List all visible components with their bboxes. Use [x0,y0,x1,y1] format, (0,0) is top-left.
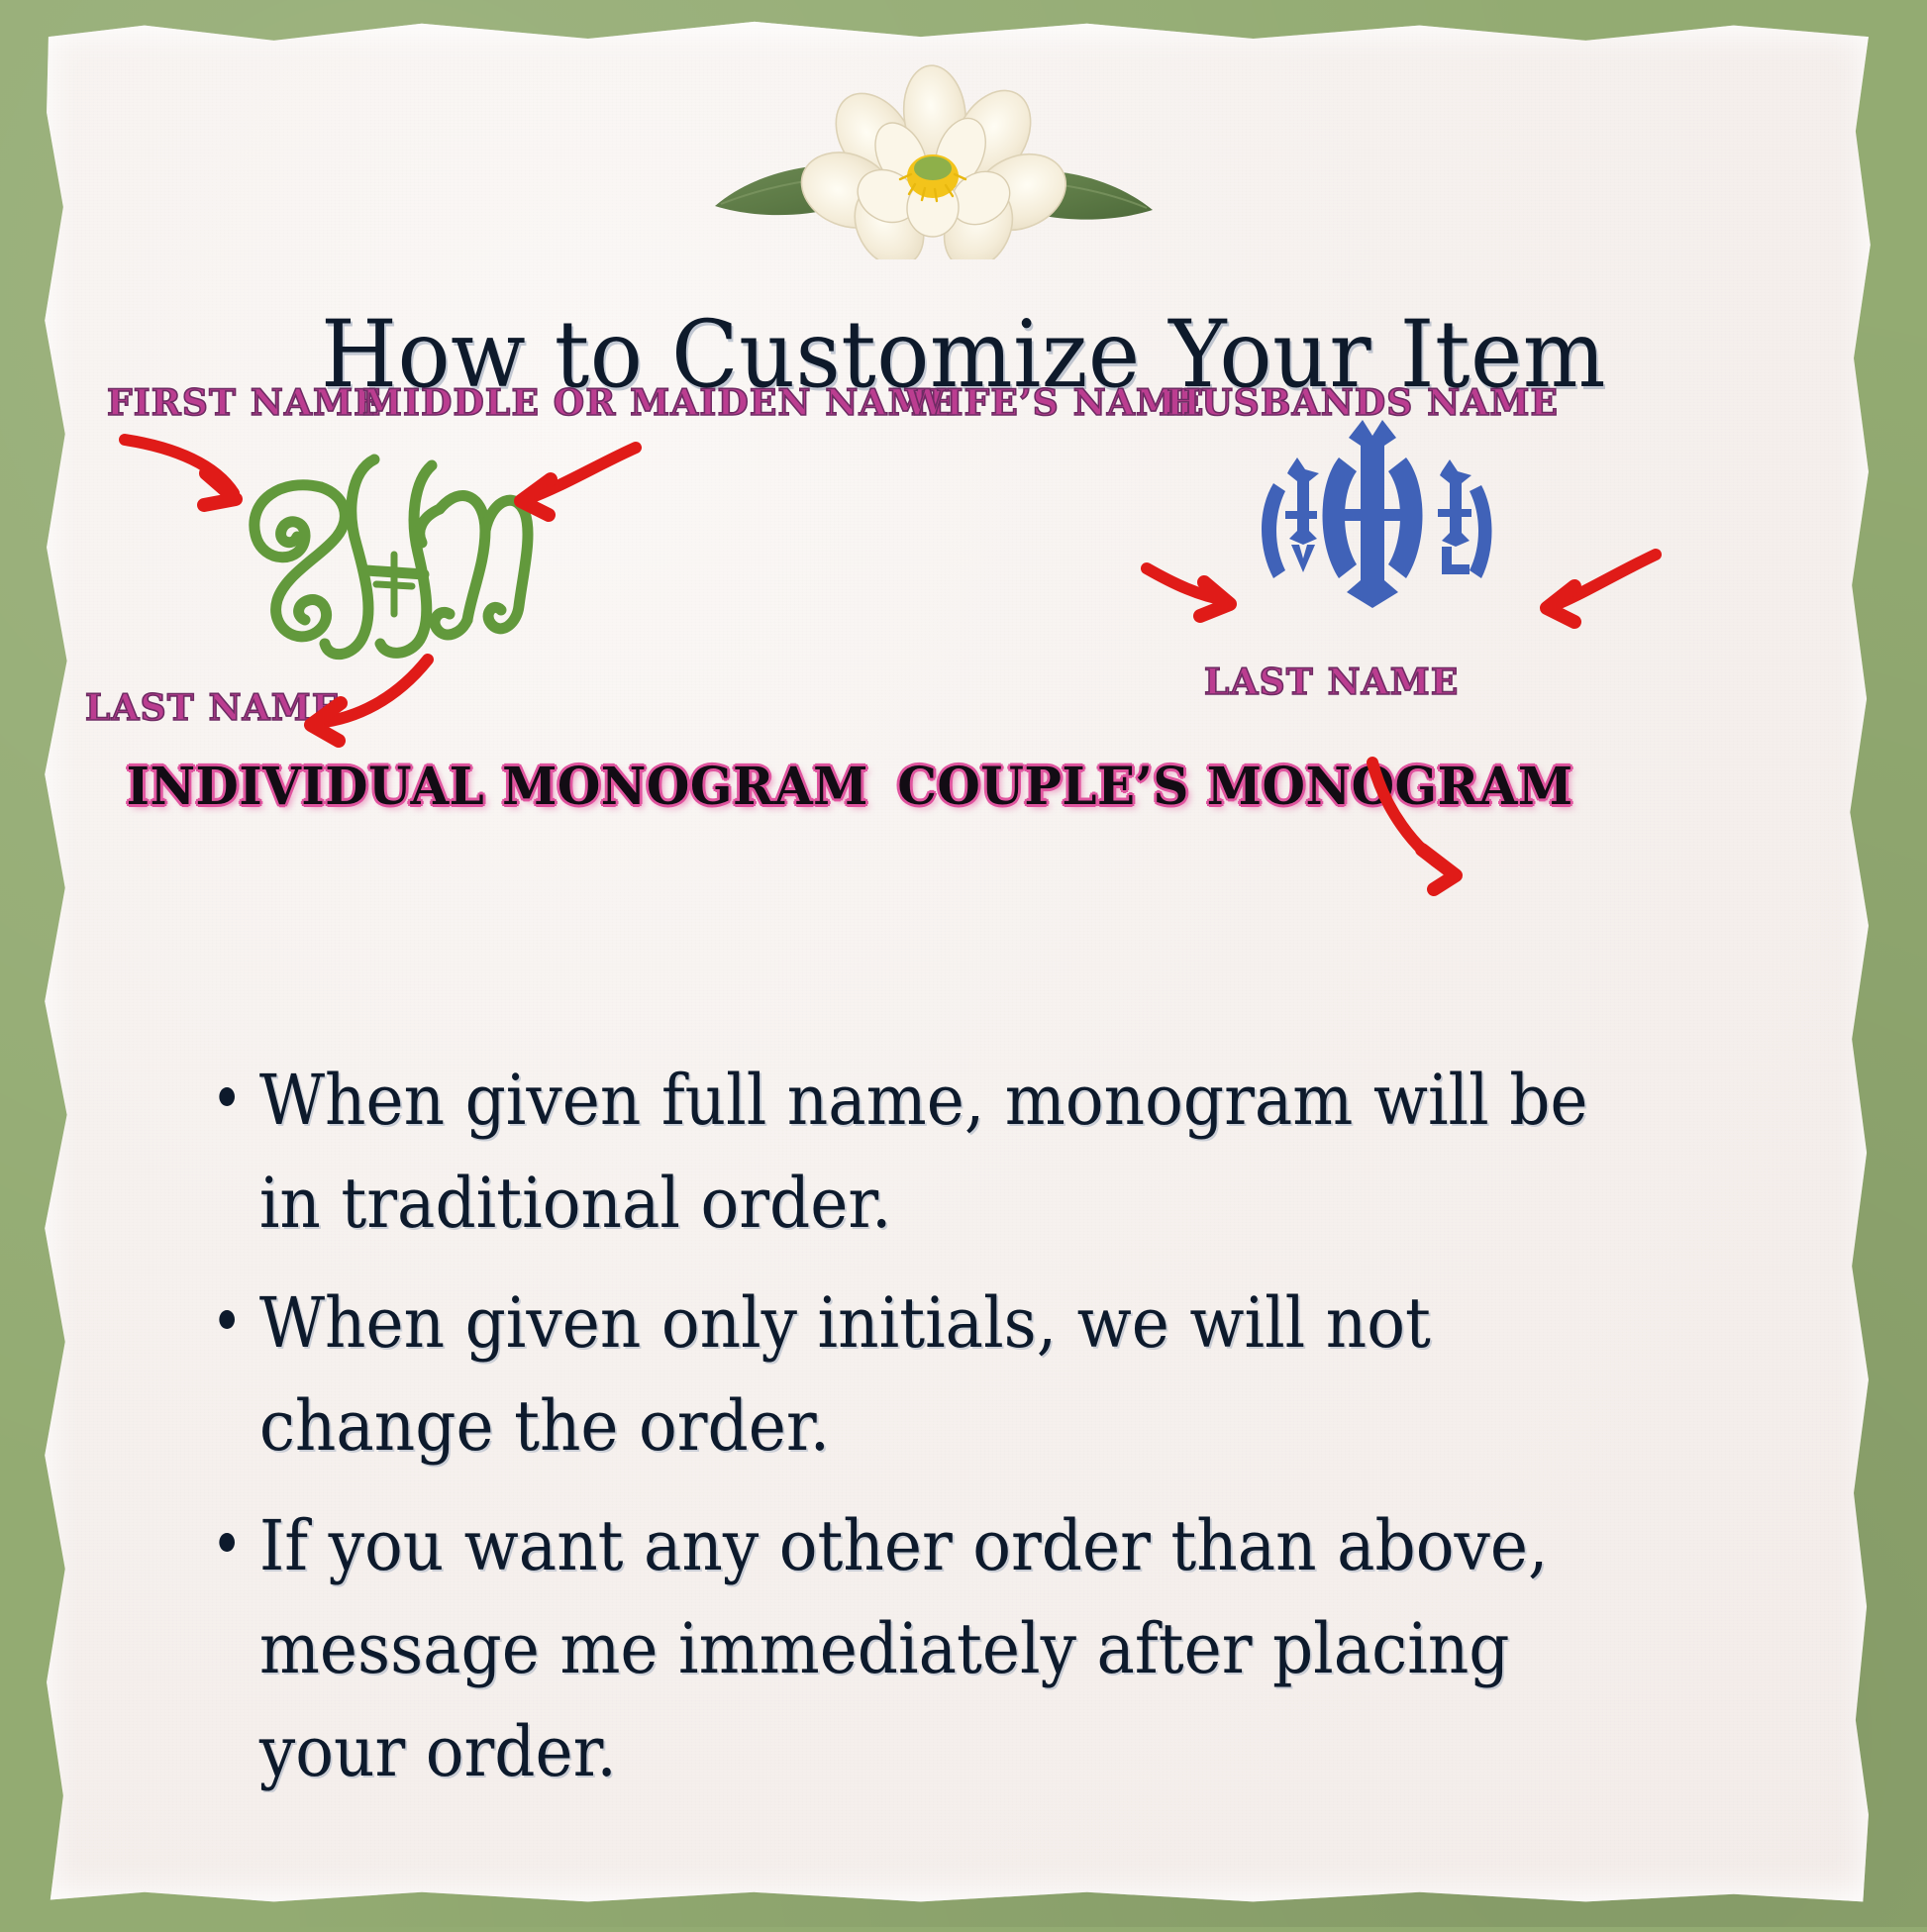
individual-monogram-graphic [226,426,553,673]
caption-individual-monogram: INDIVIDUAL MONOGRAM [127,757,868,817]
label-individual-last-name: LAST NAME [85,687,341,729]
poster-content: How to Customize Your Item [0,0,1927,1927]
couple-monogram-graphic [1246,414,1493,642]
note-item: If you want any other order than above, … [259,1495,1597,1803]
label-husbands-name: HUSBANDS NAME [1166,382,1559,424]
magnolia-flower-icon [705,61,1161,259]
label-wifes-name: WIFE’S NAME [905,382,1205,424]
instruction-notes: When given full name, monogram will be i… [212,1050,1596,1821]
note-item: When given only initials, we will not ch… [259,1272,1597,1477]
note-item: When given full name, monogram will be i… [259,1050,1597,1255]
poster-canvas: How to Customize Your Item [0,0,1927,1927]
label-middle-or-maiden-name: MIDDLE OR MAIDEN NAME [362,382,957,424]
caption-couple-monogram: COUPLE’S MONOGRAM [897,757,1572,817]
label-first-name: FIRST NAME [107,382,382,424]
label-couple-last-name: LAST NAME [1204,661,1460,703]
